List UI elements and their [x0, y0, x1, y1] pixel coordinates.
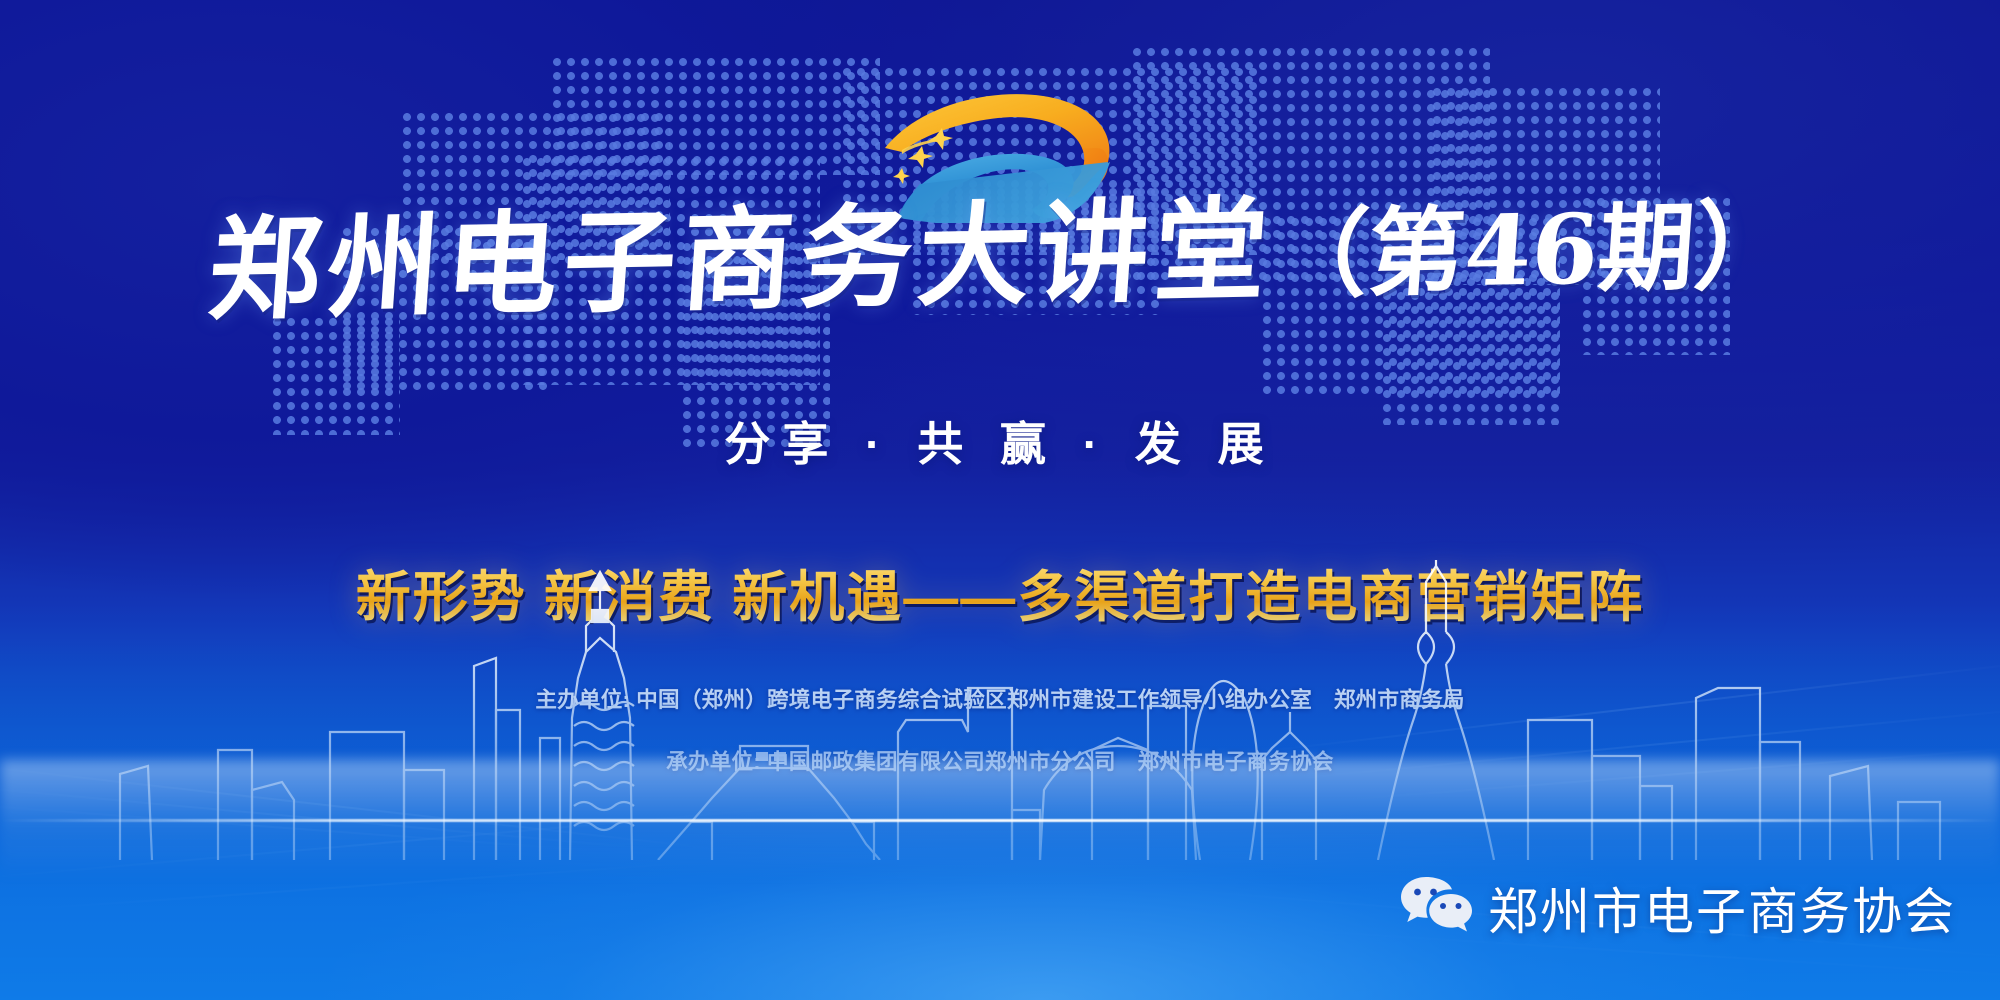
- subtitle: 分享 · 共 赢 · 发 展: [0, 408, 2000, 474]
- wechat-badge: 郑州市电子商务协会: [1400, 872, 1956, 944]
- wechat-label: 郑州市电子商务协会: [1488, 872, 1956, 944]
- event-banner: 郑州电子商务大讲堂（第46期） 分享 · 共 赢 · 发 展 新形势 新消费 新…: [0, 0, 2000, 1000]
- ground-line: [0, 819, 2000, 822]
- main-title-text: 郑州电子商务大讲堂: [205, 185, 1278, 336]
- episode-number: （第46期）: [1268, 189, 1794, 312]
- wechat-icon: [1400, 875, 1472, 942]
